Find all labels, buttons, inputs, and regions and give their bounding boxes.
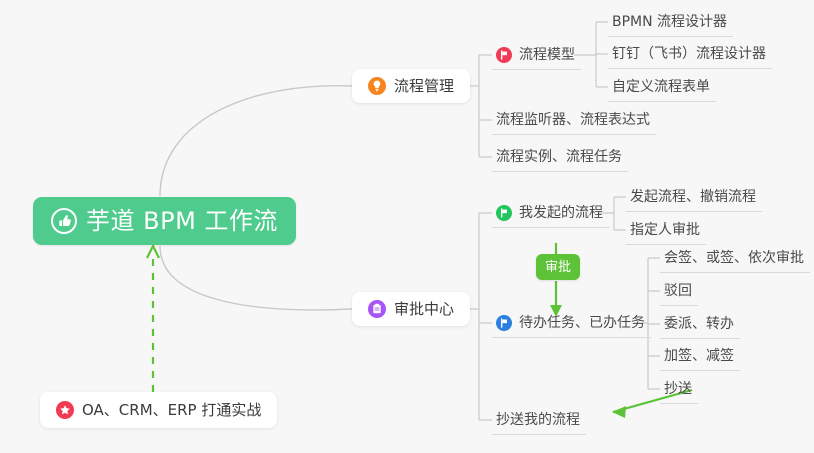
- node-todo-done[interactable]: 待办任务、已办任务: [492, 309, 651, 338]
- branch-label: 流程管理: [394, 79, 454, 94]
- thumbs-up-icon: [51, 208, 77, 234]
- root-label: 芋道 BPM 工作流: [86, 209, 278, 233]
- node-assignee-approval[interactable]: 指定人审批: [626, 216, 706, 245]
- node-label: 钉钉（飞书）流程设计器: [612, 47, 766, 61]
- flag-icon: [496, 315, 512, 331]
- tag-label: 审批: [545, 261, 571, 274]
- note-label: OA、CRM、ERP 打通实战: [82, 403, 261, 418]
- node-countersign[interactable]: 会签、或签、依次审批: [660, 244, 810, 273]
- node-process-model[interactable]: 流程模型: [492, 41, 581, 70]
- clipboard-icon: [368, 300, 386, 318]
- node-custom-process-form[interactable]: 自定义流程表单: [608, 73, 716, 102]
- node-cc-to-me[interactable]: 抄送我的流程: [492, 406, 586, 435]
- node-label: 会签、或签、依次审批: [664, 251, 804, 265]
- node-label: 自定义流程表单: [612, 80, 710, 94]
- star-icon: [56, 401, 74, 419]
- node-label: 流程实例、流程任务: [496, 150, 622, 164]
- tag-approval[interactable]: 审批: [536, 254, 580, 280]
- node-dingtalk-feishu-designer[interactable]: 钉钉（飞书）流程设计器: [608, 40, 772, 69]
- flag-icon: [496, 205, 512, 221]
- branch-approval-center[interactable]: 审批中心: [352, 292, 470, 326]
- lightbulb-icon: [368, 77, 386, 95]
- node-label: 发起流程、撤销流程: [630, 190, 756, 204]
- flag-icon: [496, 47, 512, 63]
- node-instance-task[interactable]: 流程实例、流程任务: [492, 143, 628, 172]
- branch-process-management[interactable]: 流程管理: [352, 69, 470, 103]
- node-label: 流程模型: [519, 48, 575, 62]
- node-add-remove-sign[interactable]: 加签、减签: [660, 342, 740, 371]
- node-label: 指定人审批: [630, 223, 700, 237]
- node-bpmn-designer[interactable]: BPMN 流程设计器: [608, 8, 733, 37]
- mindmap-canvas: 芋道 BPM 工作流 流程管理 流程模型 BPMN 流程设计器 钉钉（飞书）流程: [0, 0, 814, 453]
- node-label: BPMN 流程设计器: [612, 15, 727, 29]
- node-my-initiated[interactable]: 我发起的流程: [492, 199, 609, 228]
- node-listener-expression[interactable]: 流程监听器、流程表达式: [492, 106, 656, 135]
- node-start-cancel[interactable]: 发起流程、撤销流程: [626, 183, 762, 212]
- node-delegate-transfer[interactable]: 委派、转办: [660, 310, 740, 339]
- node-label: 加签、减签: [664, 349, 734, 363]
- node-reject[interactable]: 驳回: [660, 277, 698, 306]
- node-label: 委派、转办: [664, 317, 734, 331]
- note-integration[interactable]: OA、CRM、ERP 打通实战: [40, 392, 277, 428]
- node-cc[interactable]: 抄送: [660, 375, 698, 404]
- node-label: 我发起的流程: [519, 206, 603, 220]
- root-node[interactable]: 芋道 BPM 工作流: [33, 197, 296, 245]
- node-label: 抄送: [664, 382, 692, 396]
- node-label: 驳回: [664, 284, 692, 298]
- node-label: 流程监听器、流程表达式: [496, 113, 650, 127]
- node-label: 待办任务、已办任务: [519, 316, 645, 330]
- branch-label: 审批中心: [394, 302, 454, 317]
- node-label: 抄送我的流程: [496, 413, 580, 427]
